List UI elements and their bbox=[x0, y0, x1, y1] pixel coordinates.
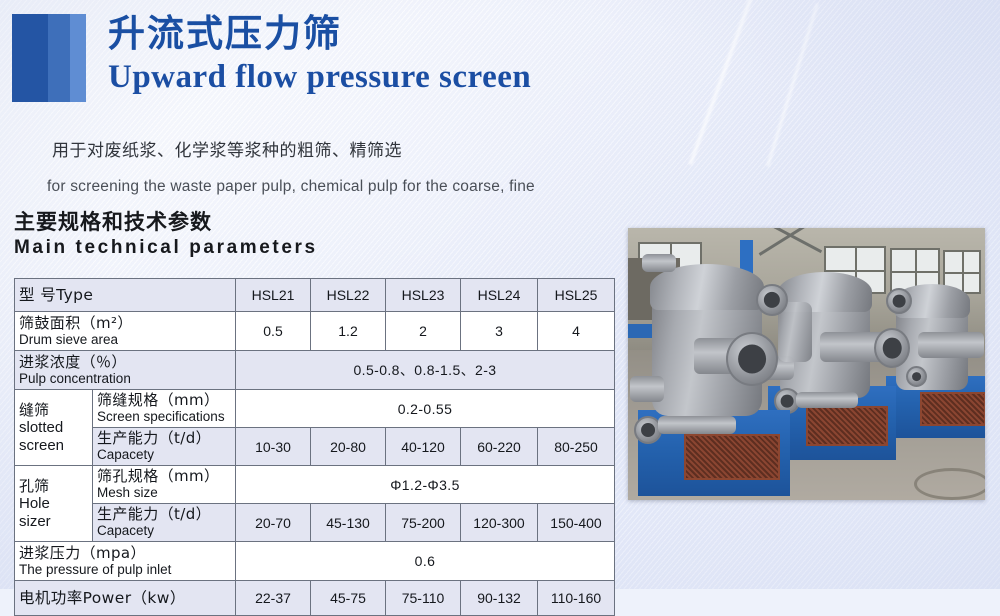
table-row-hole-sizer-capacity: 生产能力（t/d） Capacety 20-70 45-130 75-200 1… bbox=[15, 504, 615, 542]
cell-value: 90-132 bbox=[461, 581, 538, 616]
cell-model-2: HSL23 bbox=[386, 279, 461, 312]
label-en: Mesh size bbox=[97, 485, 231, 501]
light-streak-1 bbox=[687, 0, 754, 166]
group-name-en2: sizer bbox=[19, 513, 88, 531]
photo-floor-ring bbox=[914, 468, 985, 500]
label-en: Capacety bbox=[97, 523, 231, 539]
photo-flange bbox=[886, 288, 912, 314]
table-row-pulp-concentration: 进浆浓度（％） Pulp concentration 0.5-0.8、0.8-1… bbox=[15, 351, 615, 390]
label-cn: 筛孔规格（mm） bbox=[97, 468, 231, 485]
cell-span-value: 0.2-0.55 bbox=[236, 390, 615, 428]
cell-label-mesh-size: 筛孔规格（mm） Mesh size bbox=[93, 466, 236, 504]
section-heading-en: Main technical parameters bbox=[14, 237, 318, 259]
photo-base-vent bbox=[684, 434, 780, 480]
table-row-header: 型 号Type HSL21 HSL22 HSL23 HSL24 HSL25 bbox=[15, 279, 615, 312]
cell-value: 3 bbox=[461, 312, 538, 351]
photo-lower-pipe bbox=[796, 392, 858, 408]
type-label-cn: 型 号 bbox=[19, 286, 56, 304]
photo-outlet-pipe bbox=[918, 332, 984, 358]
label-en: The pressure of pulp inlet bbox=[19, 562, 231, 578]
cell-label-capacity-hole: 生产能力（t/d） Capacety bbox=[93, 504, 236, 542]
cell-label-drum-sieve-area: 筛鼓面积（m²） Drum sieve area bbox=[15, 312, 236, 351]
label-cn: 进浆压力（mpa） bbox=[19, 545, 231, 562]
cell-group-slotted-screen: 缝筛 slotted screen bbox=[15, 390, 93, 466]
cell-value: 10-30 bbox=[236, 428, 311, 466]
cell-span-value: 0.5-0.8、0.8-1.5、2-3 bbox=[236, 351, 615, 390]
logo-bars-decoration bbox=[12, 14, 86, 102]
logo-bar-dark bbox=[12, 14, 48, 102]
cell-value: 2 bbox=[386, 312, 461, 351]
page-title-en: Upward flow pressure screen bbox=[108, 57, 531, 97]
table-row-slotted-screen-spec: 缝筛 slotted screen 筛缝规格（mm） Screen specif… bbox=[15, 390, 615, 428]
logo-bar-medium bbox=[48, 14, 70, 102]
cell-value: 120-300 bbox=[461, 504, 538, 542]
cell-value: 4 bbox=[538, 312, 615, 351]
table-row-slotted-screen-capacity: 生产能力（t/d） Capacety 10-30 20-80 40-120 60… bbox=[15, 428, 615, 466]
cell-label-screen-specifications: 筛缝规格（mm） Screen specifications bbox=[93, 390, 236, 428]
cell-value: 80-250 bbox=[538, 428, 615, 466]
label-en: Screen specifications bbox=[97, 409, 231, 425]
group-name-en2: screen bbox=[19, 437, 88, 455]
cell-group-hole-sizer: 孔筛 Hole sizer bbox=[15, 466, 93, 542]
section-heading-cn: 主要规格和技术参数 bbox=[14, 206, 212, 236]
cell-value: 1.2 bbox=[311, 312, 386, 351]
cell-model-0: HSL21 bbox=[236, 279, 311, 312]
page-header: 升流式压力筛 Upward flow pressure screen bbox=[12, 12, 531, 102]
cell-label-motor-power: 电机功率Power（kw） bbox=[15, 581, 236, 616]
cell-model-4: HSL25 bbox=[538, 279, 615, 312]
cell-value: 75-110 bbox=[386, 581, 461, 616]
cell-value: 45-130 bbox=[311, 504, 386, 542]
label-cn: 筛缝规格（mm） bbox=[97, 392, 231, 409]
cell-value: 110-160 bbox=[538, 581, 615, 616]
cell-label-pulp-inlet-pressure: 进浆压力（mpa） The pressure of pulp inlet bbox=[15, 542, 236, 581]
cell-model-1: HSL22 bbox=[311, 279, 386, 312]
title-block: 升流式压力筛 Upward flow pressure screen bbox=[108, 12, 531, 97]
cell-model-3: HSL24 bbox=[461, 279, 538, 312]
photo-flange bbox=[756, 284, 788, 316]
cell-value: 150-400 bbox=[538, 504, 615, 542]
photo-main-flange bbox=[726, 332, 778, 386]
table-row-hole-sizer-mesh: 孔筛 Hole sizer 筛孔规格（mm） Mesh size Φ1.2-Φ3… bbox=[15, 466, 615, 504]
cell-value: 40-120 bbox=[386, 428, 461, 466]
cell-label-pulp-concentration: 进浆浓度（％） Pulp concentration bbox=[15, 351, 236, 390]
page-title-cn: 升流式压力筛 bbox=[108, 12, 531, 56]
type-label-en: Type bbox=[56, 286, 93, 304]
photo-flange bbox=[874, 328, 910, 368]
intro-line-en: for screening the waste paper pulp, chem… bbox=[47, 178, 637, 196]
photo-inlet-pipe bbox=[630, 376, 664, 402]
cell-span-value: Φ1.2-Φ3.5 bbox=[236, 466, 615, 504]
photo-base-vent bbox=[920, 392, 985, 426]
cell-span-value: 0.6 bbox=[236, 542, 615, 581]
table-row-pulp-inlet-pressure: 进浆压力（mpa） The pressure of pulp inlet 0.6 bbox=[15, 542, 615, 581]
label-cn: 生产能力（t/d） bbox=[97, 430, 231, 447]
table-row-motor-power: 电机功率Power（kw） 22-37 45-75 75-110 90-132 … bbox=[15, 581, 615, 616]
table-row-drum-sieve-area: 筛鼓面积（m²） Drum sieve area 0.5 1.2 2 3 4 bbox=[15, 312, 615, 351]
intro-line-cn: 用于对废纸浆、化学浆等浆种的粗筛、精筛选 bbox=[52, 136, 402, 161]
specifications-table: 型 号Type HSL21 HSL22 HSL23 HSL24 HSL25 筛鼓… bbox=[14, 278, 615, 616]
photo-lower-pipe bbox=[658, 416, 736, 434]
product-photo bbox=[628, 228, 985, 500]
group-name-cn: 孔筛 bbox=[19, 477, 88, 495]
cell-value: 20-70 bbox=[236, 504, 311, 542]
label-en: Drum sieve area bbox=[19, 332, 231, 348]
cell-value: 0.5 bbox=[236, 312, 311, 351]
group-name-en1: slotted bbox=[19, 419, 88, 437]
photo-top-pipe bbox=[642, 254, 676, 272]
cell-type-label: 型 号Type bbox=[15, 279, 236, 312]
cell-value: 60-220 bbox=[461, 428, 538, 466]
cell-value: 22-37 bbox=[236, 581, 311, 616]
label-cn: 生产能力（t/d） bbox=[97, 506, 231, 523]
label-cn: 筛鼓面积（m²） bbox=[19, 315, 231, 332]
cell-label-capacity-slotted: 生产能力（t/d） Capacety bbox=[93, 428, 236, 466]
photo-flange bbox=[906, 366, 927, 387]
cell-value: 75-200 bbox=[386, 504, 461, 542]
label-cn: 进浆浓度（％） bbox=[19, 354, 231, 371]
label-cn: 电机功率Power（kw） bbox=[19, 589, 186, 607]
label-en: Capacety bbox=[97, 447, 231, 463]
logo-bar-light bbox=[70, 14, 86, 102]
group-name-cn: 缝筛 bbox=[19, 401, 88, 419]
cell-value: 45-75 bbox=[311, 581, 386, 616]
label-en: Pulp concentration bbox=[19, 371, 231, 387]
cell-value: 20-80 bbox=[311, 428, 386, 466]
light-streak-2 bbox=[765, 3, 819, 167]
photo-base-vent bbox=[806, 406, 888, 446]
group-name-en1: Hole bbox=[19, 495, 88, 513]
